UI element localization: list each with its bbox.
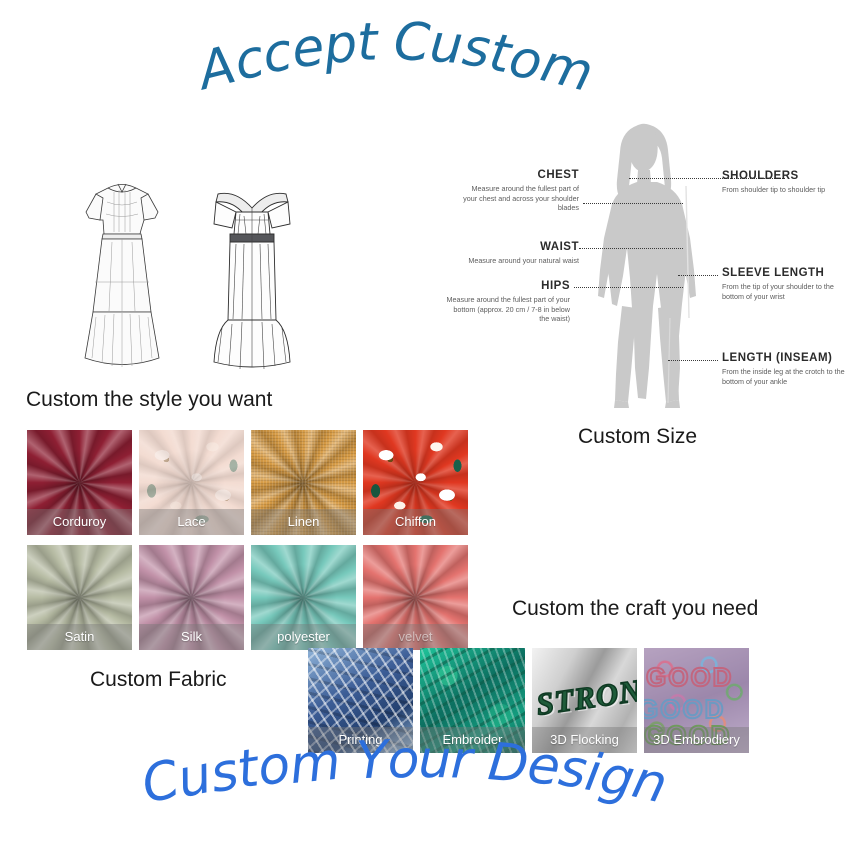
measurement-shoulders-description: From shoulder tip to shoulder tip [722,185,848,195]
banner-title-top: Accept Custom [205,38,586,98]
garment-illustration-off-shoulder-mermaid-dress [192,172,312,377]
measurement-chest-description: Measure around the fullest part of your … [456,184,579,213]
leader-line-hips [574,287,683,288]
leader-line-inseam [668,360,718,361]
banner-char: Y [355,730,388,791]
measurement-hips: HIPS Measure around the fullest part of … [442,279,570,324]
measurement-length-inseam: LENGTH (INSEAM) From the inside leg at t… [722,351,850,386]
banner-char: C [392,12,430,73]
measurement-sleeve-length: SLEEVE LENGTH From the tip of your shoul… [722,266,850,301]
banner-char: t [356,12,378,73]
banner-char: r [450,730,473,791]
heading-custom-fabric: Custom Fabric [90,668,227,692]
fabric-swatch-linen[interactable]: Linen [251,430,356,535]
leader-line-sleeve [678,275,718,276]
fabric-swatch-corduroy[interactable]: Corduroy [27,430,132,535]
measurement-shoulders-title: SHOULDERS [722,169,848,183]
fabric-swatch-corduroy-label: Corduroy [27,509,132,535]
infographic-canvas: Accept Custom [0,0,850,850]
craft-swatch-3d-embrodiery[interactable]: GOOD GOOD GOOD 3D Embrodiery [644,648,749,753]
fabric-swatch-lace-label: Lace [139,509,244,535]
measurement-length-inseam-description: From the inside leg at the crotch to the… [722,367,850,386]
banner-char: p [321,14,358,76]
measurement-waist-description: Measure around your natural waist [450,256,579,266]
banner-char [377,12,393,72]
banner-char: o [387,730,419,790]
banner-char: u [418,730,451,790]
fabric-swatch-silk[interactable]: Silk [139,545,244,650]
fabric-swatch-velvet-label: velvet [363,624,468,650]
measurement-sleeve-length-title: SLEEVE LENGTH [722,266,850,280]
measurement-hips-title: HIPS [442,279,570,293]
fabric-swatch-chiffon[interactable]: Chiffon [363,430,468,535]
size-measurement-chart: CHEST Measure around the fullest part of… [446,118,850,410]
heading-custom-size: Custom Size [578,425,697,449]
measurement-shoulders: SHOULDERS From shoulder tip to shoulder … [722,169,848,195]
fabric-swatch-polyester[interactable]: polyester [251,545,356,650]
craft-swatch-3d-embrodiery-label: 3D Embrodiery [644,727,749,753]
measurement-length-inseam-title: LENGTH (INSEAM) [722,351,850,365]
measurement-chest-title: CHEST [456,168,579,182]
fabric-swatch-polyester-label: polyester [251,624,356,650]
banner-char: o [254,735,292,798]
garment-illustration-tiered-maxi-dress [62,172,182,377]
measurement-sleeve-length-description: From the tip of your shoulder to the bot… [722,282,850,301]
leader-line-waist [579,248,683,249]
measurement-waist: WAIST Measure around your natural waist [450,240,579,266]
measurement-hips-description: Measure around the fullest part of your … [442,295,570,324]
fabric-swatch-satin[interactable]: Satin [27,545,132,650]
leader-line-chest [583,203,683,204]
fabric-swatch-satin-label: Satin [27,624,132,650]
heading-custom-style: Custom the style you want [26,388,272,412]
banner-char: D [486,732,531,795]
fabric-swatch-lace[interactable]: Lace [139,430,244,535]
banner-char: m [536,34,599,104]
banner-title-bottom: Custom Your Design [148,752,660,812]
craft-motif-text-good-1: GOOD [646,662,733,693]
fabric-swatch-chiffon-label: Chiffon [363,509,468,535]
banner-char: e [288,17,326,80]
fabric-swatch-linen-label: Linen [251,509,356,535]
measurement-chest: CHEST Measure around the fullest part of… [456,168,579,213]
banner-char: u [428,14,465,76]
fabric-swatch-velvet[interactable]: velvet [363,545,468,650]
measurement-waist-title: WAIST [450,240,579,254]
fabric-swatch-silk-label: Silk [139,624,244,650]
heading-custom-craft: Custom the craft you need [512,597,758,621]
banner-char: m [287,732,342,796]
